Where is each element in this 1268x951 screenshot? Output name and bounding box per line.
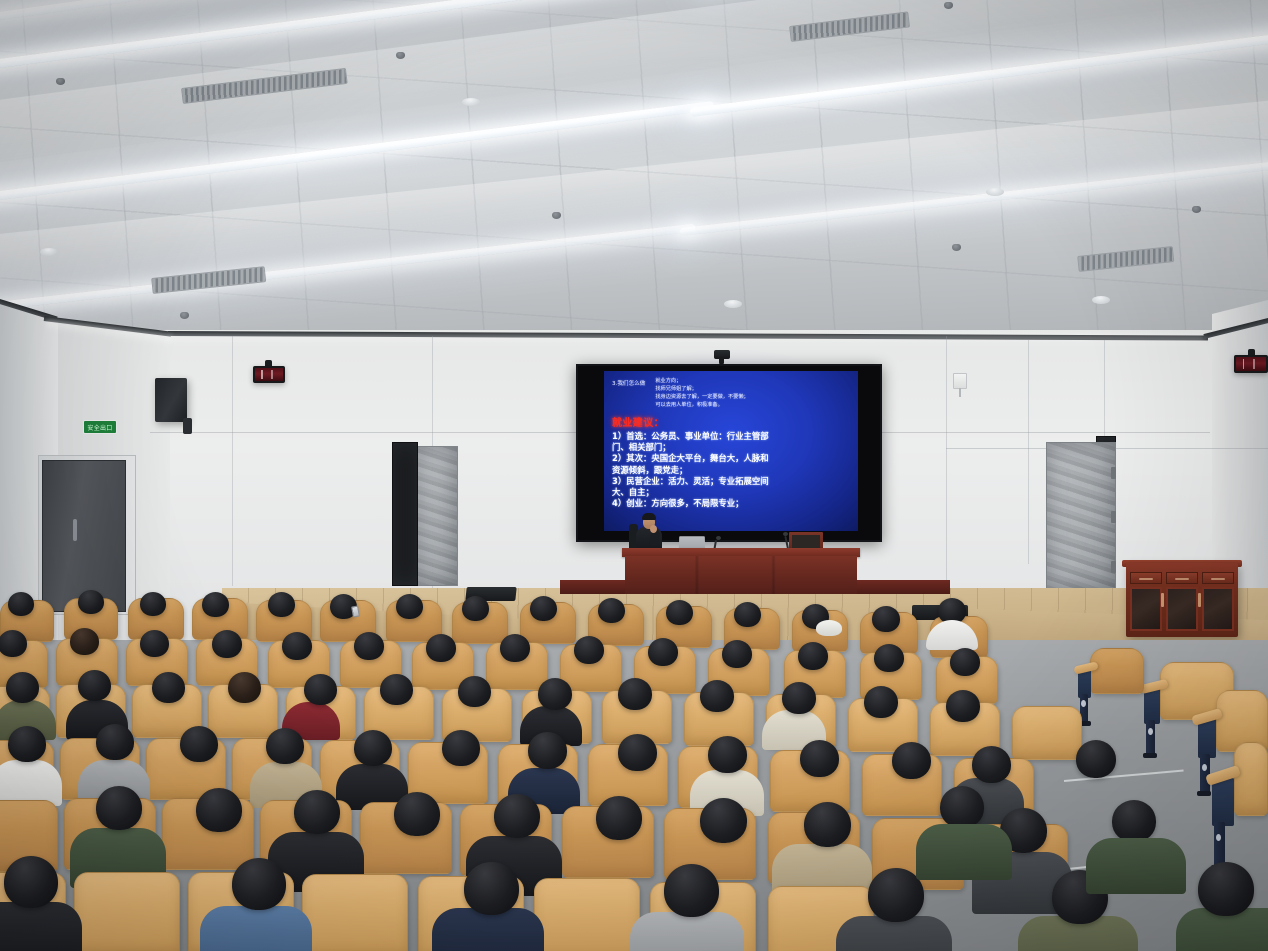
smoke-detector-icon — [1092, 296, 1110, 304]
audience-torso — [0, 902, 82, 951]
slide-note: 可以去用人单位，积极准备。 — [655, 401, 748, 409]
seat[interactable] — [1012, 706, 1082, 760]
audience-head — [442, 730, 480, 766]
audience-head — [804, 802, 851, 847]
slide-section-title: 3.我们怎么做 — [612, 381, 645, 388]
smoke-detector-icon — [986, 188, 1004, 196]
cabinet-glass-door[interactable] — [1202, 587, 1234, 631]
audience-head — [950, 648, 980, 676]
wall-seam — [946, 336, 947, 582]
sprinkler-icon — [944, 2, 953, 9]
smoke-detector-icon — [462, 98, 480, 106]
slide-bullet: 大、自主； — [612, 487, 852, 498]
cabinet-handle-icon[interactable] — [1198, 593, 1201, 607]
audience-head — [152, 672, 185, 703]
audience-head — [892, 742, 931, 779]
audience-head — [8, 592, 34, 616]
audience-head — [228, 672, 261, 703]
cabinet-drawer[interactable] — [1166, 572, 1198, 584]
slide-note: 找师兄师姐了解； — [655, 385, 748, 393]
audience-head — [464, 862, 519, 915]
audience-head — [700, 680, 734, 712]
slide-bullet: 1）首选：公务员、事业单位：行业主管部 — [612, 431, 852, 442]
empty-seat[interactable] — [1234, 742, 1268, 816]
audience-head — [618, 678, 652, 710]
audience-head — [618, 734, 657, 771]
smoke-detector-icon — [724, 300, 742, 308]
door-hinge-icon — [1111, 561, 1116, 573]
presenter-hand — [650, 525, 657, 533]
slide-content: 3.我们怎么做 就业方向； 找师兄师姐了解； 找身边资源去了解，一定要做，不要懒… — [604, 371, 858, 531]
left-door-gap — [392, 442, 418, 586]
audience-head — [530, 596, 557, 621]
audience-head — [202, 592, 229, 617]
seat-side-panel — [1212, 778, 1234, 826]
slide-bullet: 3）民营企业：活力、灵活；专业拓展空间 — [612, 476, 852, 487]
slide-bullet: 门、相关部门； — [612, 442, 852, 453]
sprinkler-icon — [180, 312, 189, 319]
audience-head — [78, 670, 111, 701]
audience-head — [700, 798, 747, 843]
speaker-table — [625, 556, 857, 594]
audience-head — [0, 630, 27, 657]
wall-light-glow — [168, 335, 1204, 345]
exit-sign-label: 安全出口 — [87, 423, 112, 432]
right-metal-door[interactable] — [1046, 442, 1116, 590]
audience-head — [1112, 800, 1156, 842]
audience-head — [972, 746, 1011, 783]
slide-bullet-list: 1）首选：公务员、事业单位：行业主管部 门、相关部门； 2）其次：央国企大平台，… — [612, 431, 852, 509]
door-handle-icon[interactable] — [73, 519, 77, 541]
audience-head — [1198, 862, 1254, 916]
slide-note: 找身边资源去了解，一定要做，不要懒； — [655, 393, 748, 401]
audience-head — [282, 632, 312, 660]
cabinet-drawer[interactable] — [1130, 572, 1162, 584]
sprinkler-icon — [56, 78, 65, 85]
seat-number-plate — [1202, 764, 1207, 771]
audience-head — [140, 592, 166, 616]
audience-head — [500, 634, 530, 662]
audience-torso — [630, 912, 744, 951]
cabinet-glass-door[interactable] — [1166, 587, 1198, 631]
left-door[interactable] — [42, 460, 126, 612]
audience-head — [96, 786, 142, 830]
audience-head — [800, 740, 839, 777]
audience-head — [708, 736, 747, 773]
audience-head — [538, 678, 572, 710]
audience-head — [864, 686, 898, 718]
audience-head — [462, 596, 489, 621]
audience-torso — [200, 906, 312, 951]
audience-head — [140, 630, 169, 657]
cabinet-handle-icon[interactable] — [1161, 593, 1164, 607]
audience-head — [294, 790, 340, 834]
audience-head — [6, 672, 39, 703]
slide-bullet: 2）其次：央国企大平台，舞台大，人脉和 — [612, 453, 852, 464]
cabinet-drawer[interactable] — [1202, 572, 1234, 584]
audience-head — [212, 630, 242, 658]
audience-head — [266, 728, 304, 764]
sprinkler-icon — [952, 244, 961, 251]
seat-side-panel — [1144, 688, 1160, 724]
seat-number-plate — [1216, 834, 1221, 841]
audience-head — [180, 726, 218, 762]
audience-head — [1076, 740, 1116, 778]
audience-head — [596, 796, 642, 840]
microphone-head-icon — [783, 532, 788, 536]
door-hinge-icon — [1111, 511, 1116, 523]
audience-head — [782, 682, 816, 714]
audience-head — [78, 590, 104, 614]
audience-torso — [916, 824, 1012, 880]
audience-head — [70, 628, 99, 655]
audience-head — [396, 594, 423, 619]
overhead-camera-icon — [714, 350, 730, 359]
lecture-hall-scene: 安全出口 3.我们怎么做 就业方向； — [0, 0, 1268, 951]
speaker-mount-bracket — [183, 418, 192, 434]
sprinkler-icon — [1192, 206, 1201, 213]
presenter-hair — [642, 513, 656, 520]
audience-cap — [816, 620, 842, 636]
audience-head — [458, 676, 491, 707]
smoke-detector-icon — [40, 248, 58, 256]
audience-head — [268, 592, 295, 617]
sprinkler-icon — [396, 52, 405, 59]
audience-head — [872, 606, 900, 632]
microphone-head-icon — [716, 536, 721, 540]
slide-heading: 就业建议： — [612, 414, 852, 429]
seat-leg — [1146, 720, 1155, 758]
wall-seam — [232, 336, 233, 586]
audience-head — [574, 636, 604, 664]
wall-control-panel[interactable] — [953, 373, 967, 389]
right-indicator-box — [1234, 355, 1268, 373]
audience-head — [648, 638, 678, 666]
cabinet-glass-door[interactable] — [1130, 587, 1162, 631]
audience-head — [232, 858, 286, 910]
sprinkler-icon — [552, 212, 561, 219]
seat[interactable] — [534, 878, 640, 951]
audience-head — [722, 640, 752, 668]
slide-surface: 3.我们怎么做 就业方向； 找师兄师姐了解； 找身边资源去了解，一定要做，不要懒… — [604, 371, 858, 531]
projection-screen: 3.我们怎么做 就业方向； 找师兄师姐了解； 找身边资源去了解，一定要做，不要懒… — [576, 364, 882, 542]
audience-head — [798, 642, 828, 670]
audience-head — [4, 856, 58, 908]
audience-head — [354, 632, 384, 660]
audience-head — [354, 730, 392, 766]
door-hinge-icon — [1111, 467, 1116, 479]
audience-head — [946, 690, 980, 722]
audience-head — [426, 634, 456, 662]
left-wall-speaker — [155, 378, 187, 422]
audience-head — [664, 864, 719, 917]
audience-torso — [1086, 838, 1186, 894]
exit-sign: 安全出口 — [83, 420, 117, 434]
slide-note: 就业方向； — [655, 377, 748, 385]
audience-head — [304, 674, 337, 705]
audience-head — [96, 724, 134, 760]
audience-head — [380, 674, 413, 705]
empty-seat[interactable] — [1090, 648, 1144, 694]
left-metal-panel — [416, 446, 458, 586]
seat[interactable] — [74, 872, 180, 951]
audience-head — [196, 788, 242, 832]
audience-head — [394, 792, 440, 836]
audience-head — [528, 732, 567, 769]
ceiling — [0, 0, 1268, 352]
left-indicator-box — [253, 366, 285, 383]
audience-head — [8, 726, 46, 762]
wall-seam — [1028, 340, 1029, 564]
seat[interactable] — [302, 874, 408, 951]
audience-head — [734, 602, 761, 627]
audience-head — [598, 598, 625, 623]
audience-head — [940, 786, 984, 828]
audience-head — [494, 794, 540, 838]
slide-bullet: 4）创业：方向很多，不局限专业； — [612, 498, 852, 509]
seat-number-plate — [1081, 700, 1086, 707]
storage-cabinet[interactable] — [1126, 563, 1238, 637]
audience-head — [666, 600, 693, 625]
audience-head — [874, 644, 904, 672]
seat-number-plate — [1148, 728, 1153, 735]
slide-bullet: 资源倾斜，跟党走； — [612, 465, 852, 476]
